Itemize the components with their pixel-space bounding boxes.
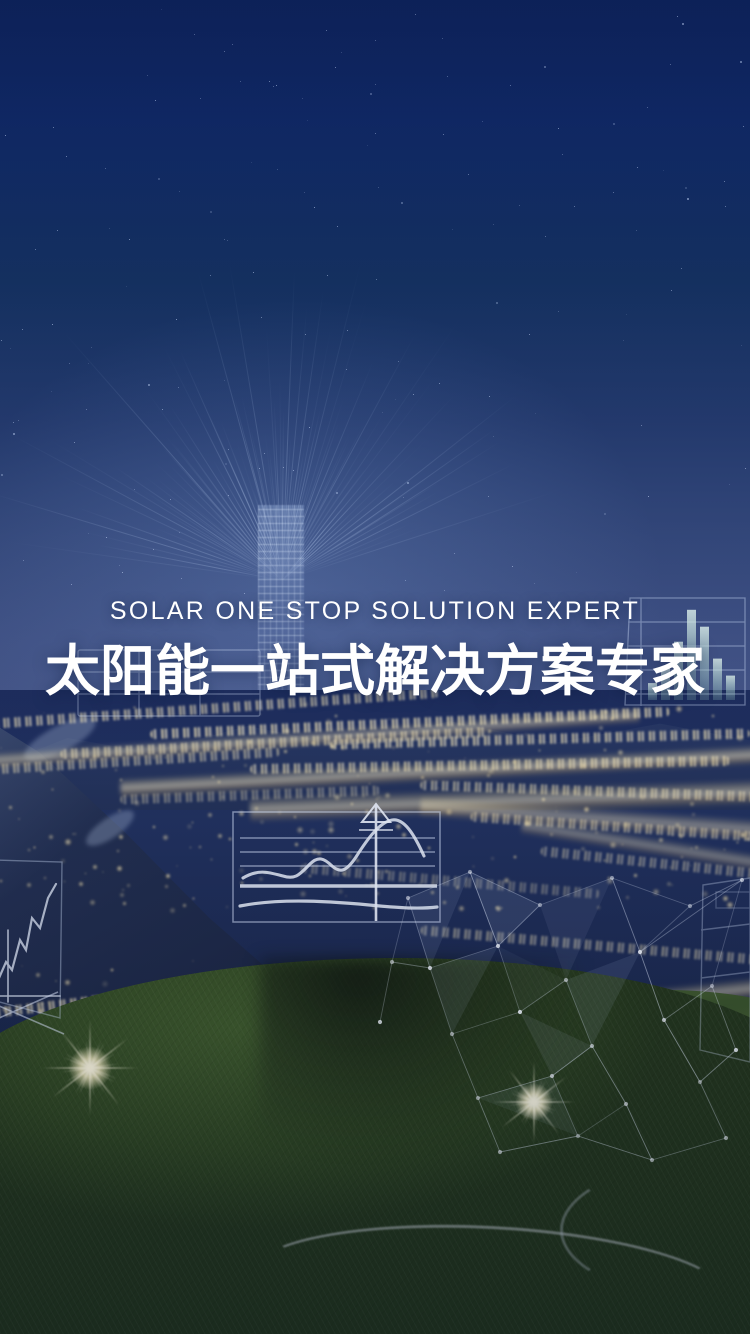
- hero-eyebrow: SOLAR ONE STOP SOLUTION EXPERT: [0, 596, 750, 626]
- hero-headline: 太阳能一站式解决方案专家: [0, 640, 750, 703]
- hero-copy: SOLAR ONE STOP SOLUTION EXPERT 太阳能一站式解决方…: [0, 596, 750, 703]
- hero-banner: SOLAR ONE STOP SOLUTION EXPERT 太阳能一站式解决方…: [0, 0, 750, 1334]
